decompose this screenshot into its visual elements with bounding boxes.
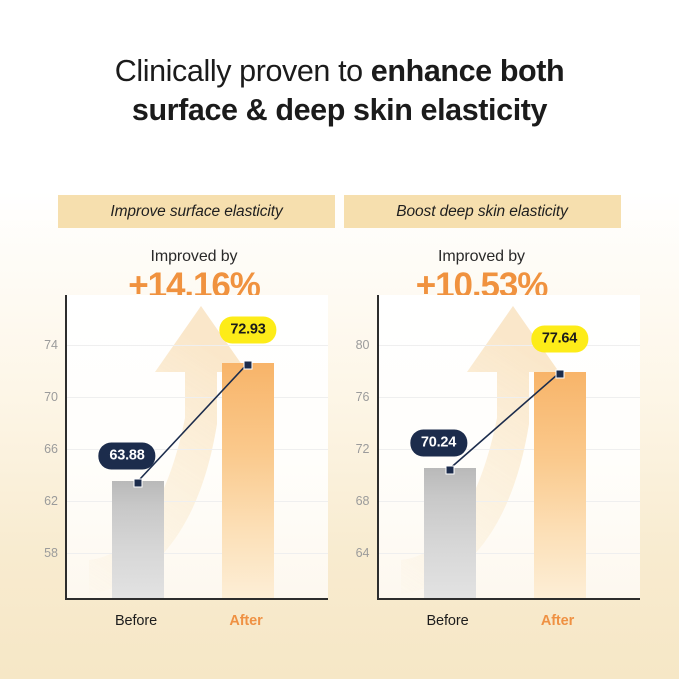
y-tick-label: 68 (356, 494, 370, 508)
title-line-1: Clinically proven to enhance both (0, 52, 679, 91)
y-tick-label: 72 (356, 442, 370, 456)
data-point-marker-before (445, 466, 454, 475)
y-tick-label: 70 (44, 390, 58, 404)
x-axis-labels-deep: Before After (377, 607, 640, 637)
y-tick-label: 76 (356, 390, 370, 404)
x-label-before: Before (115, 613, 157, 629)
plot-area-surface: 74 70 66 62 58 63.88 72.93 (65, 295, 328, 600)
charts-container: Improve surface elasticity Improved by +… (0, 188, 679, 648)
y-tick-label: 62 (44, 494, 58, 508)
title-line-2: surface & deep skin elasticity (0, 91, 679, 130)
value-label-before: 70.24 (410, 430, 467, 457)
data-point-marker-after (244, 361, 253, 370)
chart-panel-deep-skin-elasticity: Boost deep skin elasticity Improved by +… (340, 188, 679, 648)
improved-by-label-deep: Improved by (356, 248, 608, 266)
x-label-after: After (229, 613, 262, 629)
plot-area-deep: 80 76 72 68 64 70.24 77.64 (377, 295, 640, 600)
y-tick-label: 74 (44, 338, 58, 352)
x-label-after: After (541, 613, 574, 629)
title-bold-text-2: surface & deep skin elasticity (132, 93, 547, 127)
x-axis-labels-surface: Before After (65, 607, 328, 637)
y-tick-label: 66 (44, 442, 58, 456)
value-label-before: 63.88 (98, 443, 155, 470)
chart-badge-surface: Improve surface elasticity (58, 195, 335, 228)
improved-by-label-surface: Improved by (68, 248, 320, 266)
y-tick-label: 80 (356, 338, 370, 352)
title-light-text: Clinically proven to (115, 54, 371, 88)
bar-chart-deep: 80 76 72 68 64 70.24 77.64 Before After (340, 295, 640, 607)
data-point-marker-before (134, 479, 143, 488)
chart-panel-surface-elasticity: Improve surface elasticity Improved by +… (0, 188, 340, 648)
title-bold-text-1: enhance both (371, 54, 564, 88)
page-title: Clinically proven to enhance both surfac… (0, 0, 679, 130)
data-point-marker-after (555, 370, 564, 379)
x-label-before: Before (426, 613, 468, 629)
bar-chart-surface: 74 70 66 62 58 63.88 72.93 Before (28, 295, 328, 607)
value-label-after: 77.64 (531, 326, 588, 353)
y-tick-label: 58 (44, 546, 58, 560)
value-label-after: 72.93 (219, 317, 276, 344)
y-tick-label: 64 (356, 546, 370, 560)
chart-badge-deep: Boost deep skin elasticity (344, 195, 621, 228)
